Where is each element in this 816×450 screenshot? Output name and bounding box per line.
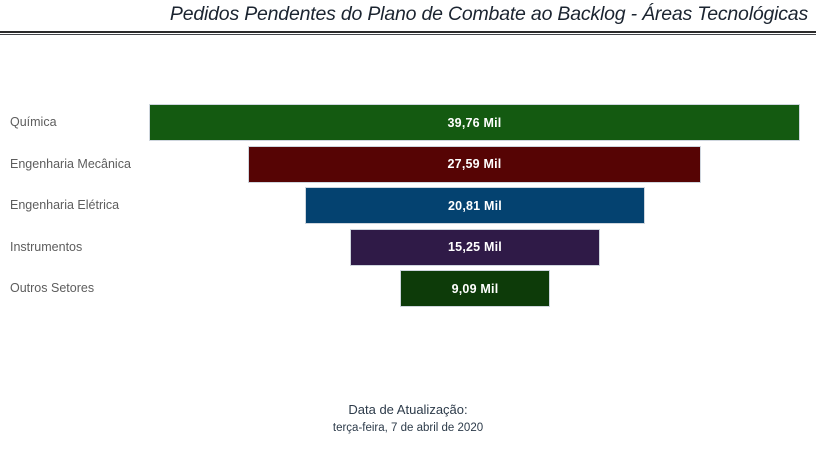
funnel-bar[interactable]: 20,81 Mil <box>305 187 645 224</box>
funnel-chart: Química39,76 MilEngenharia Mecânica27,59… <box>0 100 816 325</box>
bar-value-label: 27,59 Mil <box>448 157 502 171</box>
chart-header: Pedidos Pendentes do Plano de Combate ao… <box>0 0 816 36</box>
bar-value-label: 39,76 Mil <box>448 116 502 130</box>
category-label: Outros Setores <box>10 266 94 311</box>
funnel-row: Engenharia Elétrica20,81 Mil <box>0 183 816 228</box>
page-title: Pedidos Pendentes do Plano de Combate ao… <box>170 3 808 26</box>
title-divider <box>0 31 816 35</box>
category-label: Química <box>10 100 57 145</box>
funnel-bar[interactable]: 27,59 Mil <box>248 146 701 183</box>
update-date: terça-feira, 7 de abril de 2020 <box>0 419 816 437</box>
category-label: Engenharia Mecânica <box>10 142 131 187</box>
funnel-row: Outros Setores9,09 Mil <box>0 266 816 311</box>
category-label: Instrumentos <box>10 225 82 270</box>
bar-value-label: 20,81 Mil <box>448 199 502 213</box>
funnel-row: Engenharia Mecânica27,59 Mil <box>0 142 816 187</box>
funnel-bar[interactable]: 15,25 Mil <box>350 229 600 266</box>
update-footer: Data de Atualização: terça-feira, 7 de a… <box>0 400 816 437</box>
funnel-bar[interactable]: 39,76 Mil <box>149 104 800 141</box>
funnel-row: Química39,76 Mil <box>0 100 816 145</box>
category-label: Engenharia Elétrica <box>10 183 119 228</box>
funnel-row: Instrumentos15,25 Mil <box>0 225 816 270</box>
funnel-bar[interactable]: 9,09 Mil <box>400 270 550 307</box>
bar-value-label: 15,25 Mil <box>448 240 502 254</box>
bar-value-label: 9,09 Mil <box>452 282 499 296</box>
update-caption: Data de Atualização: <box>0 400 816 419</box>
